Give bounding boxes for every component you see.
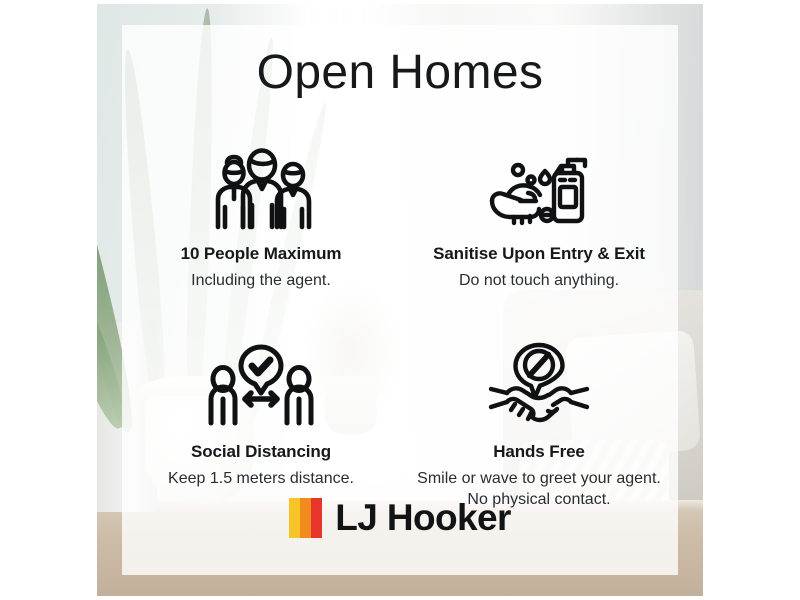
guidelines-grid: 10 People Maximum Including the agent. [122, 135, 678, 510]
logo-bar-red [311, 498, 322, 538]
three-people-icon [128, 135, 394, 231]
guideline-subtitle: Do not touch anything. [406, 270, 672, 291]
guideline-subtitle: Keep 1.5 meters distance. [128, 468, 394, 489]
poster-canvas: Open Homes [0, 0, 800, 600]
logo-bar-orange [300, 498, 311, 538]
logo-bars-icon [289, 498, 322, 538]
social-distancing-icon [128, 333, 394, 429]
guideline-title: Sanitise Upon Entry & Exit [406, 244, 672, 264]
logo-text: LJ Hooker [335, 497, 511, 539]
guideline-item-people: 10 People Maximum Including the agent. [122, 135, 400, 291]
hand-sanitiser-icon [406, 135, 672, 231]
info-card: Open Homes [122, 25, 678, 575]
guideline-item-hands-free: Hands Free Smile or wave to greet your a… [400, 333, 678, 510]
guideline-subtitle: Including the agent. [128, 270, 394, 291]
guidelines-row: 10 People Maximum Including the agent. [122, 135, 678, 291]
guideline-subtitle-line1: Smile or wave to greet your agent. [417, 470, 661, 487]
guideline-title: Hands Free [406, 442, 672, 462]
logo-bar-yellow [289, 498, 300, 538]
guidelines-row: Social Distancing Keep 1.5 meters distan… [122, 333, 678, 510]
no-handshake-icon [406, 333, 672, 429]
guideline-title: 10 People Maximum [128, 244, 394, 264]
guideline-item-sanitise: Sanitise Upon Entry & Exit Do not touch … [400, 135, 678, 291]
guideline-item-distancing: Social Distancing Keep 1.5 meters distan… [122, 333, 400, 510]
page-title: Open Homes [122, 45, 678, 100]
guideline-title: Social Distancing [128, 442, 394, 462]
lj-hooker-logo: LJ Hooker [122, 497, 678, 539]
